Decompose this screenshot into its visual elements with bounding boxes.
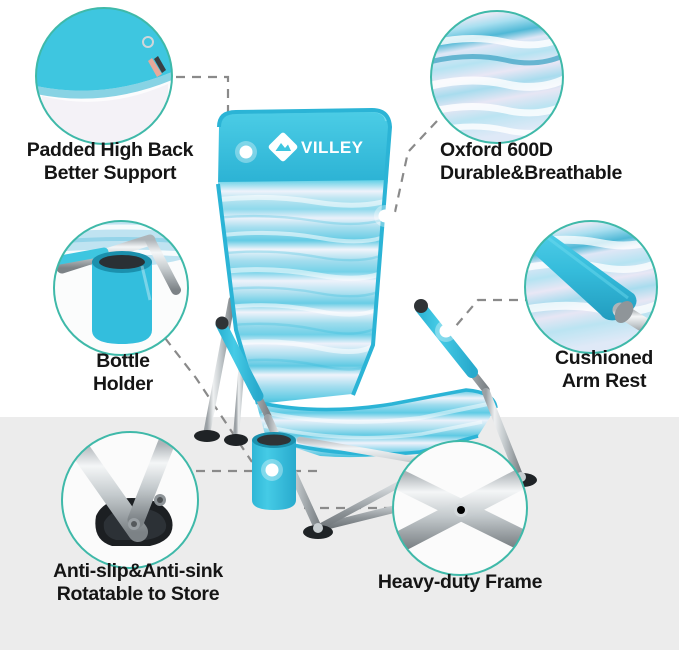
caption-anti-slip: Anti-slip&Anti-sink Rotatable to Store bbox=[40, 560, 236, 605]
callout-circle-padded-high-back bbox=[36, 8, 172, 144]
hotspot-bottle-holder[interactable] bbox=[261, 459, 283, 481]
hotspot-fabric-stripe[interactable] bbox=[374, 205, 396, 227]
callout-circle-anti-slip bbox=[62, 432, 198, 568]
caption-bottle-holder: Bottle Holder bbox=[64, 350, 182, 395]
hotspot-backrest-grommet[interactable] bbox=[235, 141, 257, 163]
infographic-canvas: VILLEY bbox=[0, 0, 679, 650]
caption-oxford-600d: Oxford 600D Durable&Breathable bbox=[440, 139, 670, 184]
hotspot-markers bbox=[235, 141, 457, 481]
callout-circle-bottle-holder bbox=[54, 221, 188, 355]
callout-circle-oxford-600d bbox=[429, 11, 567, 143]
callout-circle-heavy-duty-frame bbox=[388, 441, 534, 575]
callout-circles bbox=[0, 0, 679, 650]
caption-cushioned-arm-rest: Cushioned Arm Rest bbox=[538, 347, 670, 392]
caption-padded-high-back: Padded High Back Better Support bbox=[14, 139, 206, 184]
hotspot-arm-rest[interactable] bbox=[435, 320, 457, 342]
callout-circle-cushioned-arm-rest bbox=[523, 221, 662, 353]
caption-heavy-duty-frame: Heavy-duty Frame bbox=[360, 571, 560, 594]
